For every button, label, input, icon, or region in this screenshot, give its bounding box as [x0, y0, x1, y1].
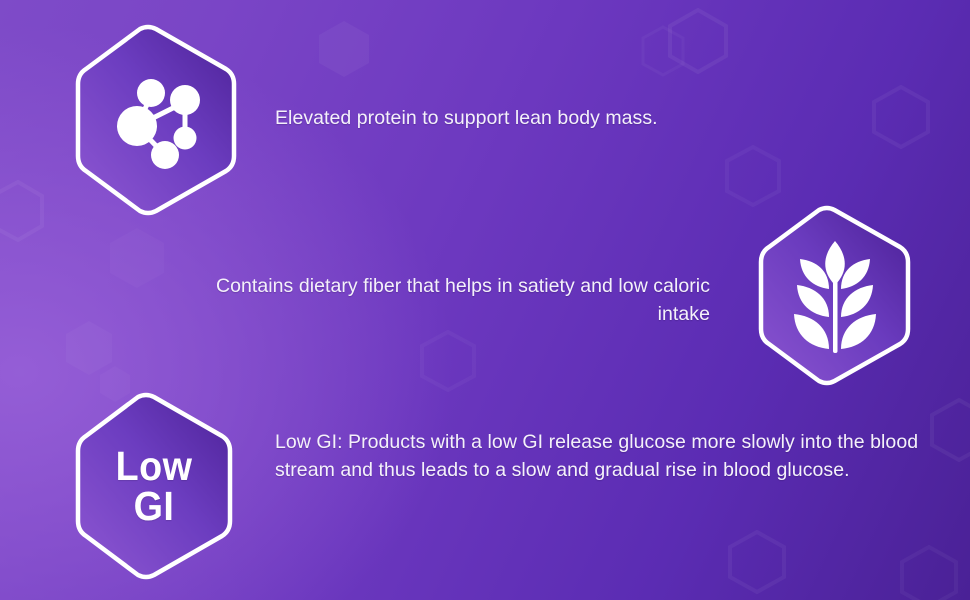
background-hexagon-outline-2 [872, 85, 930, 149]
background-hexagon-outline-4 [0, 180, 44, 242]
feature-icon-molecule[interactable] [58, 22, 254, 218]
feature-text-low-gi: Low GI: Products with a low GI release g… [275, 429, 930, 484]
low-gi-line-2: GI [134, 486, 175, 526]
wheat-icon [742, 203, 927, 388]
background-hexagon-outline-1 [668, 8, 728, 74]
background-hexagon-outline-5 [420, 330, 476, 392]
background-hexagon-outline-6 [728, 530, 786, 594]
background-hexagon-filled-2 [108, 226, 166, 290]
background-hexagon-outline-7 [930, 398, 970, 462]
feature-text-fiber: Contains dietary fiber that helps in sat… [190, 273, 710, 328]
background-hexagon-outline-8 [900, 545, 958, 600]
background-hexagon-outline-3 [725, 145, 781, 207]
feature-text-protein: Elevated protein to support lean body ma… [275, 105, 835, 133]
feature-icon-low-gi[interactable]: Low GI [58, 390, 250, 582]
low-gi-badge-text: Low GI [66, 390, 243, 582]
background-hexagon-outline-9 [640, 25, 686, 77]
feature-icon-wheat[interactable] [742, 203, 927, 388]
molecule-icon [58, 22, 254, 218]
background-hexagon-filled-1 [318, 20, 370, 78]
infographic-canvas: Low GI Elevated protein to support lean … [0, 0, 970, 600]
background-hexagon-filled-3 [64, 320, 114, 376]
low-gi-line-1: Low [116, 446, 193, 486]
